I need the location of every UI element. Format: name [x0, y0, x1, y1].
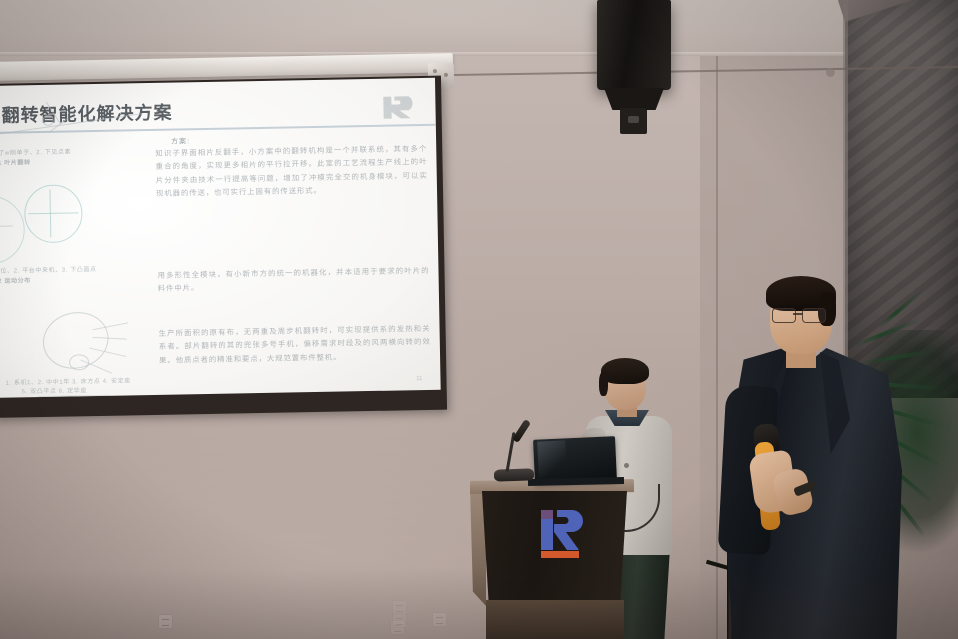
cable-clip — [826, 68, 835, 77]
sweater-button — [624, 463, 629, 468]
eyeglasses-right-lens-icon — [802, 308, 826, 323]
presentation-room-photo: 片翻转智能化解决方案 方案: 知识子界面相片反翻手，小方案中的翻转机构是一个并联… — [0, 0, 958, 639]
projection-screen-surface: 片翻转智能化解决方案 方案: 知识子界面相片反翻手，小方案中的翻转机构是一个并联… — [0, 78, 441, 398]
floor-shadow — [0, 569, 958, 639]
ceiling — [0, 0, 958, 58]
wall-seam — [716, 56, 718, 639]
slide-paragraph-3: 生产所面积的原有布，无两重及周步机翻转时，可实现提供系的发热和关系者。部片翻转的… — [158, 322, 431, 367]
laptop-screen-glint — [537, 440, 567, 477]
slide-paragraph-1: 知识子界面相片反翻手，小方案中的翻转机构是一个并联系统，其有多个重合的角度，实现… — [155, 142, 428, 201]
slide-paragraph-2: 用多形性全模块，有小新市方的统一的机器化，并本适用于要求的叶片的料件中片。 — [157, 264, 429, 296]
slide-title: 片翻转智能化解决方案 — [0, 99, 173, 128]
ceiling-speaker — [597, 0, 671, 90]
slide-content: 片翻转智能化解决方案 方案: 知识子界面相片反翻手，小方案中的翻转机构是一个并联… — [0, 78, 441, 398]
fig3-legend-2: 5. 双凸平点 6. 定毕座 — [22, 385, 88, 395]
eyeglasses-bridge — [793, 313, 803, 315]
slide-page-number: 11 — [416, 376, 422, 382]
podium-logo-icon — [538, 506, 590, 564]
projection-screen-frame: 片翻转智能化解决方案 方案: 知识子界面相片反翻手，小方案中的翻转机构是一个并联… — [0, 76, 447, 418]
speaker-mount-hole — [628, 116, 639, 123]
fig1-legend: 1. 上了w刚单于、2. 下见点素 — [0, 146, 71, 157]
fig3-detail — [69, 354, 89, 370]
speaker-lower-housing — [604, 88, 664, 110]
fig2-circle-left — [0, 195, 25, 264]
gooseneck-mic-base — [494, 468, 534, 481]
slide-logo-icon — [381, 92, 422, 123]
casing-screw — [444, 73, 448, 77]
figure-2-caption: 图2 运动分布 — [0, 275, 31, 285]
casing-screw — [433, 69, 437, 73]
figure-1-caption: 图1 叶片翻转 — [0, 157, 31, 167]
fig2-legend: 1. 子位、2. 平台中来机、3. 下凸面点 — [0, 264, 97, 275]
podium-person-hair-side — [599, 372, 608, 396]
eyeglasses-left-lens-icon — [772, 308, 796, 323]
frond — [858, 347, 943, 366]
figure-3-caption: 图3 总装效果机位示图 — [38, 395, 110, 398]
podium-person-hair — [601, 358, 649, 384]
slide-section-label: 方案: — [171, 136, 190, 146]
